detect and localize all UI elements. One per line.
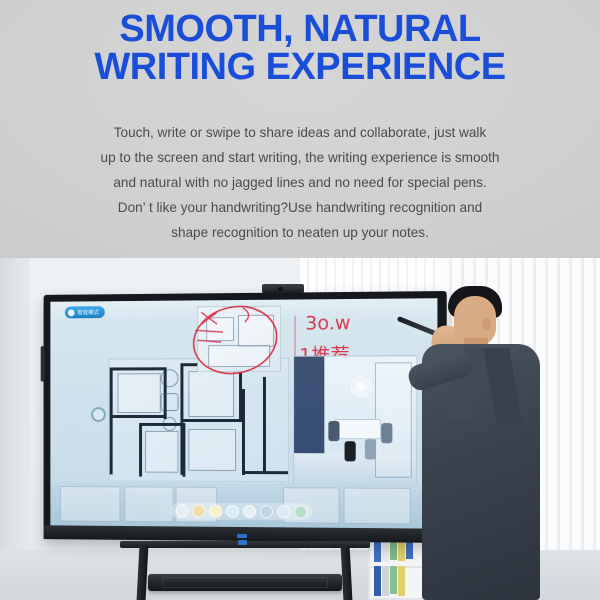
floorplan-image[interactable] bbox=[109, 358, 289, 482]
product-feature-page: SMOOTH, NATURAL WRITING EXPERIENCE Touch… bbox=[0, 0, 600, 600]
headline-line-1: SMOOTH, NATURAL bbox=[119, 8, 480, 50]
paragraph-line-5: shape recognition to neaten up your note… bbox=[24, 220, 576, 245]
paragraph-line-2: up to the screen and start writing, the … bbox=[24, 145, 576, 170]
interior-render-image[interactable] bbox=[293, 355, 417, 485]
paragraph-line-3: and natural with no jagged lines and no … bbox=[24, 170, 576, 195]
stand-badge bbox=[238, 540, 247, 545]
ear bbox=[482, 318, 491, 330]
paragraph-line-4: Don’ t like your handwriting?Use handwri… bbox=[24, 195, 576, 220]
stand-crossbar bbox=[120, 541, 370, 548]
apps-icon[interactable] bbox=[277, 505, 290, 518]
annotated-photo[interactable] bbox=[197, 306, 281, 372]
note-icon[interactable] bbox=[192, 505, 205, 518]
files-icon[interactable] bbox=[226, 505, 239, 518]
text-section: SMOOTH, NATURAL WRITING EXPERIENCE Touch… bbox=[0, 0, 600, 262]
status-badge[interactable]: 智能模式 bbox=[65, 306, 105, 318]
product-photo: 智能模式 bbox=[0, 258, 600, 600]
whiteboard-icon[interactable] bbox=[243, 505, 256, 518]
page-title: SMOOTH, NATURAL WRITING EXPERIENCE bbox=[0, 10, 600, 86]
screen-round-button[interactable] bbox=[91, 407, 106, 422]
screen-canvas[interactable]: 智能模式 bbox=[50, 298, 437, 528]
stand-leg-right bbox=[341, 546, 353, 600]
home-icon[interactable] bbox=[176, 505, 189, 518]
screen-area[interactable]: 智能模式 bbox=[50, 298, 437, 528]
brand-logo bbox=[237, 534, 247, 538]
screen-taskbar[interactable] bbox=[171, 503, 313, 521]
description-paragraph: Touch, write or swipe to share ideas and… bbox=[24, 120, 576, 245]
browser-icon[interactable] bbox=[209, 505, 222, 518]
pen-icon[interactable] bbox=[260, 505, 273, 518]
binder-group-bottom bbox=[374, 566, 405, 596]
left-wall bbox=[0, 258, 30, 600]
badge-label: 智能模式 bbox=[78, 308, 99, 316]
side-speaker bbox=[41, 346, 45, 381]
interactive-flat-panel-display[interactable]: 智能模式 bbox=[44, 291, 447, 543]
badge-icon bbox=[68, 309, 75, 316]
paragraph-line-1: Touch, write or swipe to share ideas and… bbox=[24, 120, 576, 145]
mobile-stand bbox=[120, 541, 370, 600]
headline-line-2: WRITING EXPERIENCE bbox=[0, 48, 600, 86]
stand-shelf bbox=[148, 574, 342, 591]
stand-leg-left bbox=[137, 546, 149, 600]
person-presenter bbox=[418, 278, 568, 600]
settings-icon[interactable] bbox=[294, 505, 307, 518]
